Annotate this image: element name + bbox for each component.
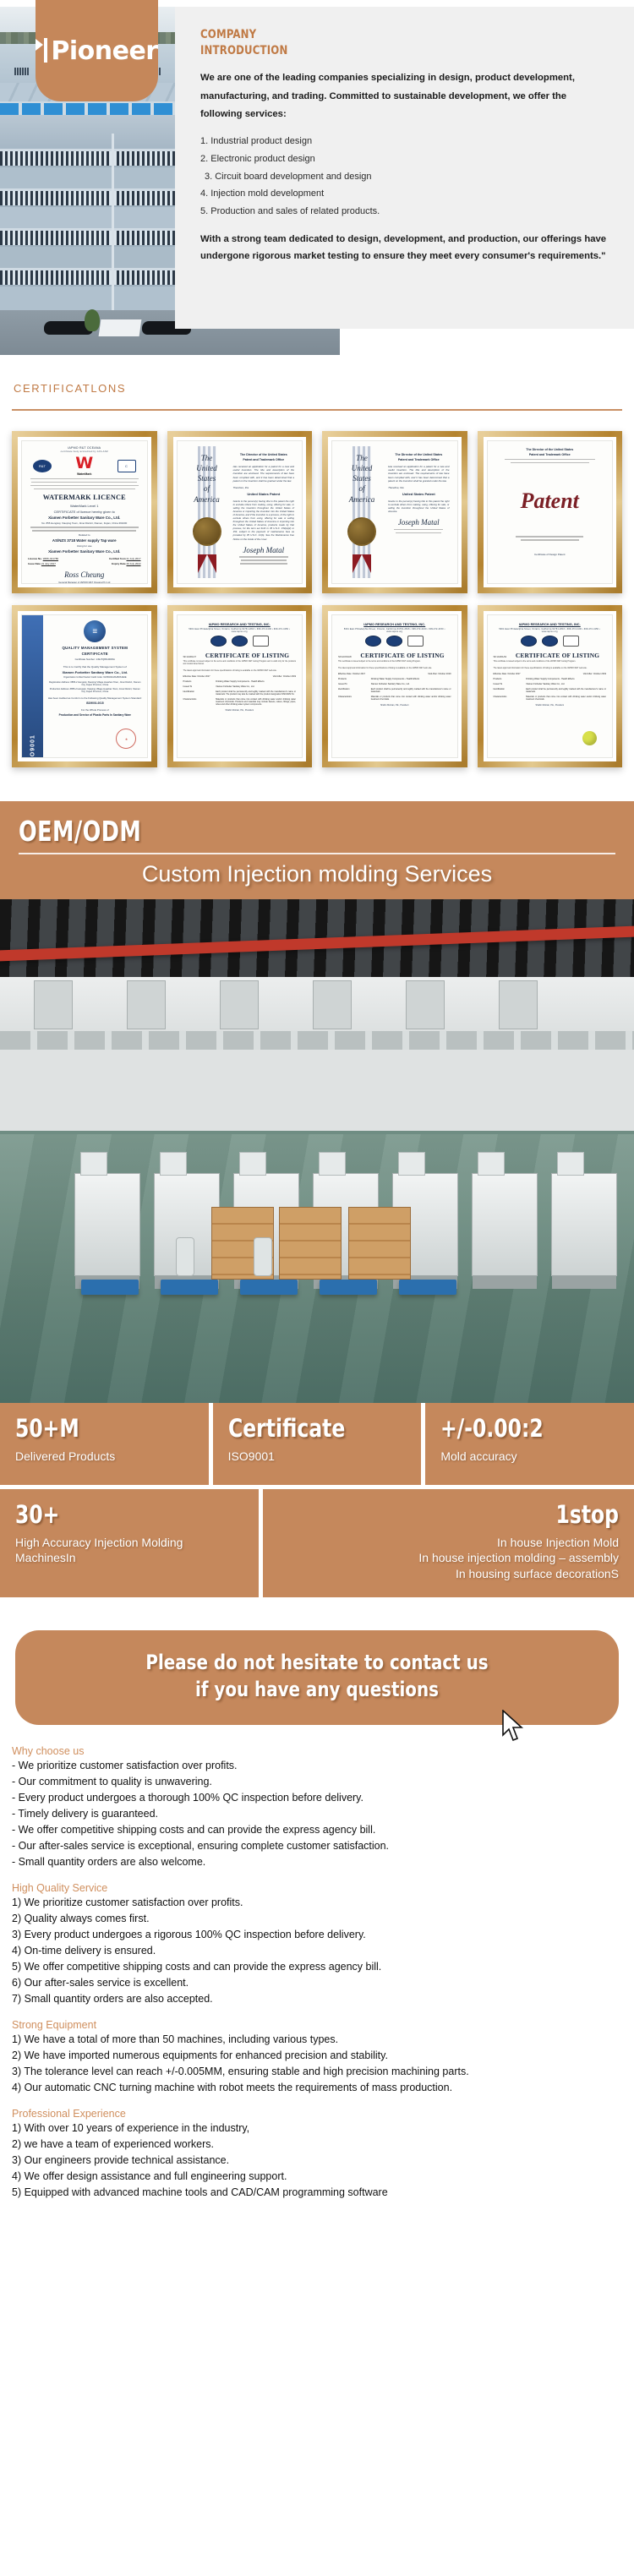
field-key: Characteristics: [338, 696, 368, 701]
company-introduction-card: COMPANY INTRODUCTION We are one of the l…: [175, 7, 634, 329]
listing-file-no: SF1A001A8: [338, 655, 352, 658]
script-line: of: [338, 483, 385, 494]
section-divider: [12, 409, 622, 411]
equipment-line: 3) The tolerance level can reach +/-0.00…: [12, 2064, 622, 2080]
listing-accreditation-logos: [183, 636, 297, 647]
listing-title: CERTIFICATE OF LISTING: [199, 652, 296, 659]
list-item: 3. Circuit board development and design: [200, 168, 609, 186]
certificate-design-patent: The Director of the United States Patent…: [487, 440, 614, 584]
injection-molding-machine: [74, 1173, 140, 1276]
stats-section: 50+M Delivered Products Certificate ISO9…: [0, 1403, 634, 1598]
field-value: Each product shall be permanently and le…: [216, 690, 296, 696]
field-key: Characteristics: [183, 698, 213, 706]
certificate-card[interactable]: IAPMO RESEARCH AND TESTING, INC. 5001 Ea…: [167, 605, 313, 767]
patent-seal-icon: [193, 517, 221, 546]
patent-title: United States Patent: [233, 492, 294, 496]
cert-sub-2: CERTIFICATE of licence hereby given to: [28, 510, 141, 514]
certificate-card[interactable]: IAPMO RESEARCH AND TESTING, INC. 5001 Ea…: [478, 605, 623, 767]
field-key: Effective Date: [183, 675, 197, 678]
field-value: Xiamen Forbetter Sanitary Ware Co., Ltd.: [371, 683, 451, 685]
stat-card: 1stop In house Injection Mold In house i…: [263, 1489, 634, 1598]
stats-row-2: 30+ High Accuracy Injection Molding Mach…: [0, 1489, 634, 1598]
iso-lead: This is to Certify that the Quality Mana…: [47, 665, 142, 669]
stacked-cartons: [279, 1207, 342, 1280]
stat-number: +/-0.00:2: [440, 1416, 601, 1441]
blue-pallet: [161, 1280, 218, 1295]
patent-title: United States Patent: [388, 492, 449, 496]
contact-cta-banner[interactable]: Please do not hesitate to contact us if …: [15, 1630, 619, 1725]
stat-label: ISO9001: [228, 1449, 407, 1465]
watermark-label: WaterMark: [75, 472, 93, 476]
blue-pallet: [320, 1280, 377, 1295]
stat-card: +/-0.00:2 Mold accuracy: [425, 1403, 634, 1485]
why-line: - We prioritize customer satisfaction ov…: [12, 1758, 622, 1774]
pioneer-flag-icon: [36, 38, 50, 63]
watermark-w-icon: W: [75, 454, 93, 472]
stat-card: 30+ High Accuracy Injection Molding Mach…: [0, 1489, 259, 1598]
script-line: States: [338, 473, 385, 483]
field-value: Materials or products that come into con…: [371, 696, 451, 701]
oem-divider: [19, 853, 615, 854]
listing-signature: Shahin Moinian, P.E., President: [338, 704, 451, 707]
cert-sub-1: WaterMark Level 1: [28, 504, 141, 508]
field-value: October 2019: [438, 673, 451, 675]
certificate-card[interactable]: IAPMO R&T OCEANA certificate body accred…: [12, 431, 157, 593]
script-line: United: [183, 463, 231, 473]
gas-cylinder: [254, 1237, 272, 1276]
experience-line: 1) With over 10 years of experience in t…: [12, 2120, 622, 2137]
section-heading: Strong Equipment: [12, 2019, 622, 2031]
field-value: Materials or products that come into con…: [526, 696, 606, 701]
oem-odm-banner: OEM/ODM Custom Injection molding Service…: [0, 801, 634, 899]
certificate-card[interactable]: The United States of America The Directo…: [322, 431, 467, 593]
stat-number: 50+M: [15, 1416, 176, 1441]
field-value: October 2017: [353, 673, 365, 675]
field-key: Licence No.: [28, 557, 42, 560]
iso-cert-no: Certificate Number: 149-PQ8610045A: [47, 658, 142, 661]
white-panel: [99, 319, 142, 336]
patent-grant: Grants to the person(s) having title to …: [233, 499, 294, 541]
stat-card: Certificate ISO9001: [213, 1403, 422, 1485]
field-value: Drinking Water Supply Components - Healt…: [526, 678, 606, 680]
cert-related: AS/NZS 3718 Water supply Tap ware: [28, 538, 141, 543]
listing-signature: Shahin Moinian, P.E., President: [494, 704, 607, 707]
injection-molding-machine: [472, 1173, 538, 1276]
cert-fields: Licence No. WMK-021786 Certified from 21…: [28, 557, 141, 565]
tennis-ball-icon: [582, 731, 597, 745]
cert-org-sub: certificate body accredited by JAS-ANZ: [28, 450, 141, 453]
cert-signature: Ross Cheung: [28, 570, 141, 579]
certificate-card[interactable]: The Director of the United States Patent…: [478, 431, 623, 593]
field-key: Issued To: [183, 685, 213, 688]
cnas-seal-icon: ≡: [84, 620, 106, 642]
office-line-2: Patent and Trademark Office: [388, 458, 449, 461]
duct: [127, 980, 166, 1029]
field-value: 20 July 2022: [126, 562, 140, 565]
field-key: Effective Date: [338, 673, 352, 675]
duct: [34, 980, 73, 1029]
stat-label: High Accuracy Injection Molding Machines…: [15, 1535, 243, 1567]
company-profile-page: Pioneer COMPANY INTRODUCTION We are one …: [0, 0, 634, 2229]
listing-subnote: The latest approval information for thes…: [183, 669, 297, 672]
experience-line: 5) Equipped with advanced machine tools …: [12, 2185, 622, 2201]
factory-interior-photo: [0, 899, 634, 1403]
certificate-watermark-licence: IAPMO R&T OCEANA certificate body accred…: [21, 440, 148, 584]
stats-row-1: 50+M Delivered Products Certificate ISO9…: [0, 1403, 634, 1485]
list-item: 5. Production and sales of related produ…: [200, 203, 609, 221]
script-line: America: [338, 494, 385, 505]
quality-line: 4) On-time delivery is ensured.: [12, 1943, 622, 1959]
patent-therefore: Therefore, this: [388, 486, 449, 489]
listing-subnote: The latest approval information for thes…: [494, 667, 607, 669]
listing-org: IAPMO RESEARCH AND TESTING, INC.: [494, 622, 607, 626]
quality-line: 5) We offer competitive shipping costs a…: [12, 1959, 622, 1975]
cta-line-1: Please do not hesitate to contact us: [58, 1649, 577, 1676]
downpipe-left: [112, 134, 114, 313]
us-patent-left-panel: The United States of America: [183, 446, 231, 578]
intro-paragraph: We are one of the leading companies spec…: [200, 69, 609, 124]
cert-title: WATERMARK LICENCE: [28, 494, 141, 501]
iso-body: ≡ QUALITY MANAGEMENT SYSTEM CERTIFICATE …: [43, 615, 146, 757]
iso-holder: Xiamen Forbetter Sanitary Ware Co., Ltd.: [47, 670, 142, 674]
patent-ribbon-icon: [353, 554, 371, 573]
iso-scope: Production and Service of Plastic Parts …: [47, 713, 142, 717]
field-key: Certified from: [109, 557, 126, 560]
certificate-card[interactable]: ISO9001 ≡ QUALITY MANAGEMENT SYSTEM CERT…: [12, 605, 157, 767]
quality-line: 3) Every product undergoes a rigorous 10…: [12, 1927, 622, 1943]
stat-number: 30+: [15, 1503, 221, 1527]
office-line-1: The Director of the United States: [494, 448, 607, 451]
iso-conform: Has been Audited as Conform to the Follo…: [47, 696, 142, 700]
listing-signature: Shahin Moinian, P.E., President: [183, 709, 297, 712]
stat-label: In house Injection Mold In house injecti…: [278, 1535, 619, 1583]
office-line-2: Patent and Trademark Office: [494, 453, 607, 456]
listing-fields: Effective Date: October 2017 Void After:…: [183, 675, 297, 706]
intro-title-line-1: COMPANY: [200, 27, 568, 43]
listing-accreditation-logos: [494, 636, 607, 647]
experience-line: 4) We offer design assistance and full e…: [12, 2169, 622, 2185]
listing-org-sub: 5001 East Philadelphia Street, Ontario, …: [494, 628, 607, 633]
iso-prod-address: Production Address: #855-2 Hengsiqi, Xia…: [47, 688, 142, 693]
field-key: Identification: [494, 688, 523, 693]
blue-pallet: [240, 1280, 298, 1295]
duct: [220, 980, 259, 1029]
intro-title: COMPANY INTRODUCTION: [200, 27, 568, 58]
field-value: October 2017: [507, 673, 520, 675]
field-key: Products: [183, 680, 213, 683]
certificate-us-patent-2: The United States of America The Directo…: [331, 440, 458, 584]
experience-line: 3) Our engineers provide technical assis…: [12, 2153, 622, 2169]
patent-signature: Joseph Matal: [388, 518, 449, 527]
us-patent-left-panel: The United States of America: [338, 446, 385, 578]
section-heading: Why choose us: [12, 1745, 622, 1757]
patent-script-word: Patent: [494, 488, 607, 514]
oem-title: OEM/ODM: [19, 815, 532, 848]
listing-org-sub: 5001 East Philadelphia Street, Ontario, …: [338, 628, 451, 633]
iso-org-code: Organization Unified Social Credit Code:…: [47, 676, 142, 679]
script-line: The: [183, 453, 231, 463]
iso-standard: ISO9001:2015: [47, 701, 142, 705]
certificate-of-listing-2: IAPMO RESEARCH AND TESTING, INC. 5001 Ea…: [331, 614, 458, 758]
field-value: Xiamen Forbetter Sanitary Ware Co., Ltd.: [216, 685, 296, 688]
listing-title: CERTIFICATE OF LISTING: [354, 652, 451, 659]
cert-footer: General Manager of IAPMO R&T Oceana Pty …: [28, 581, 141, 584]
listing-org: IAPMO RESEARCH AND TESTING, INC.: [338, 622, 451, 626]
field-value: Drinking Water Supply Components - Healt…: [216, 680, 296, 683]
listing-file-no: SF1A001A7: [183, 655, 197, 658]
listing-title: CERTIFICATE OF LISTING: [509, 652, 606, 659]
blue-pallet: [81, 1280, 139, 1295]
field-key: Issued To: [494, 683, 523, 685]
script-line: America: [183, 494, 231, 505]
red-stamp-icon: ★: [116, 729, 136, 749]
duct: [313, 980, 352, 1029]
field-key: Identification: [338, 688, 368, 693]
listing-org-sub: 5001 East Philadelphia Street, Ontario, …: [183, 628, 297, 633]
oem-subtitle: Custom Injection molding Services: [19, 861, 615, 891]
spacer: [12, 2096, 622, 2108]
stat-label: Mold accuracy: [440, 1449, 619, 1465]
field-value: October 2017: [197, 675, 210, 678]
field-value: October 2019: [593, 673, 606, 675]
equipment-line: 4) Our automatic CNC turning machine wit…: [12, 2080, 622, 2096]
contact-cta-section: Please do not hesitate to contact us if …: [0, 1602, 634, 1725]
field-value: Materials or products that come into con…: [216, 698, 296, 706]
certificate-grid: IAPMO R&T OCEANA certificate body accred…: [12, 431, 622, 767]
field-key: Products: [338, 678, 368, 680]
logo-wordmark: Pioneer: [36, 36, 157, 66]
quality-line: 2) Quality always comes first.: [12, 1911, 622, 1927]
field-value: Xiamen Forbetter Sanitary Ware Co., Ltd.: [526, 683, 606, 685]
mouse-cursor-icon: [502, 1710, 524, 1742]
why-line: - Our after-sales service is exceptional…: [12, 1838, 622, 1854]
stat-card: 50+M Delivered Products: [0, 1403, 209, 1485]
listing-fields: Effective Date: October 2017 Void After:…: [494, 673, 607, 701]
list-item: 1. Industrial product design: [200, 133, 609, 150]
patent-grant: Grants to the person(s) having title to …: [388, 499, 449, 513]
section-heading: High Quality Service: [12, 1882, 622, 1894]
cta-line-2: if you have any questions: [58, 1676, 577, 1703]
why-line: - Small quantity orders are also welcome…: [12, 1854, 622, 1870]
script-line: The: [338, 453, 385, 463]
iso-title-1: QUALITY MANAGEMENT SYSTEM: [47, 646, 142, 650]
equipment-line: 1) We have a total of more than 50 machi…: [12, 2032, 622, 2048]
listing-subnote: The latest approval information for thes…: [338, 667, 451, 669]
office-line-1: The Director of the United States: [388, 453, 449, 456]
us-patent-right-panel: The Director of the United States Patent…: [385, 446, 451, 578]
field-value: 21 July 2017: [41, 562, 56, 565]
cert-related-label: Related to: [28, 533, 141, 537]
duct: [406, 980, 445, 1029]
quality-line: 6) Our after-sales service is excellent.: [12, 1975, 622, 1991]
logo-text: Pioneer: [51, 36, 157, 66]
spacer: [12, 2007, 622, 2019]
duct: [499, 980, 538, 1029]
field-value: Drinking Water Supply Components - Healt…: [371, 678, 451, 680]
quality-line: 7) Small quantity orders are also accept…: [12, 1991, 622, 2007]
field-value: WMK-021786: [43, 557, 58, 560]
field-value: 21 July 2017: [126, 557, 140, 560]
company-logo-badge[interactable]: Pioneer: [36, 0, 158, 101]
office-line-2: Patent and Trademark Office: [233, 458, 294, 461]
experience-line: 2) we have a team of experienced workers…: [12, 2137, 622, 2153]
certificate-iso9001: ISO9001 ≡ QUALITY MANAGEMENT SYSTEM CERT…: [21, 614, 148, 758]
blue-pallet: [399, 1280, 456, 1295]
field-value: October 2019: [283, 675, 296, 678]
intro-title-line-2: INTRODUCTION: [200, 43, 568, 59]
certificate-of-listing-3: IAPMO RESEARCH AND TESTING, INC. 5001 Ea…: [487, 614, 614, 758]
gas-cylinder: [176, 1237, 194, 1276]
field-key: Void After: [428, 673, 437, 675]
field-key: Identification: [183, 690, 213, 696]
patent-therefore: Therefore, this: [233, 486, 294, 489]
section-heading: Professional Experience: [12, 2108, 622, 2120]
certifications-heading: CERTIFICATLONS: [12, 382, 622, 395]
listing-note: This certificate is issued subject to th…: [494, 661, 607, 663]
iso-reg-address: Registration Address: #855-2 Hengsiqi, X…: [47, 681, 142, 686]
why-line: - We offer competitive shipping costs an…: [12, 1822, 622, 1838]
listing-file-no: SF1A001A9: [494, 655, 507, 658]
why-line: - Timely delivery is guaranteed.: [12, 1806, 622, 1822]
why-line: - Every product undergoes a thorough 100…: [12, 1790, 622, 1806]
patent-body: Has received an application for a patent…: [233, 465, 294, 483]
patent-signature: Joseph Matal: [233, 546, 294, 554]
certificate-card[interactable]: IAPMO RESEARCH AND TESTING, INC. 5001 Ea…: [322, 605, 467, 767]
list-item: 4. Injection mold development: [200, 185, 609, 203]
cert-address: No. 855 Hengsiqi, Xiaoping Town, Jimei D…: [28, 521, 141, 525]
rt-badge-icon: R&T: [33, 460, 52, 472]
field-key: Expiry Date: [112, 562, 126, 565]
field-key: Issued To: [338, 683, 368, 685]
why-line: - Our commitment to quality is unwaverin…: [12, 1774, 622, 1790]
cert-footer: Certificate of Design Patent: [494, 553, 607, 556]
script-line: States: [183, 473, 231, 483]
script-line: United: [338, 463, 385, 473]
listing-note: This certificate is issued subject to th…: [183, 661, 297, 666]
quality-line: 1) We prioritize customer satisfaction o…: [12, 1895, 622, 1911]
certificate-us-patent: The United States of America The Directo…: [177, 440, 303, 584]
listing-accreditation-logos: [338, 636, 451, 647]
field-value: Each product shall be permanently and le…: [371, 688, 451, 693]
field-key: Issue Date: [28, 562, 41, 565]
cert-holder: Xiamen Forbetter Sanitary Ware Co., Ltd.: [28, 516, 141, 520]
list-item: 2. Electronic product design: [200, 150, 609, 168]
listing-fields: Effective Date: October 2017 Void After:…: [338, 673, 451, 701]
cert-using-label: Using for use: [28, 544, 141, 548]
listing-org: IAPMO RESEARCH AND TESTING, INC.: [183, 622, 297, 626]
patent-ribbon-icon: [198, 554, 216, 573]
iso-side-band: ISO9001: [22, 615, 43, 757]
certifications-section: CERTIFICATLONS IAPMO R&T OCEANA certific…: [0, 363, 634, 767]
injection-molding-machine: [551, 1173, 617, 1276]
listing-note: This certificate is issued subject to th…: [338, 661, 451, 663]
iso-scope-label: For the Whole Process of: [47, 708, 142, 712]
intro-closing-paragraph: With a strong team dedicated to design, …: [200, 231, 609, 266]
field-key: Void After: [273, 675, 282, 678]
equipment-line: 2) We have imported numerous equipments …: [12, 2048, 622, 2064]
office-line-1: The Director of the United States: [233, 453, 294, 456]
spacer: [12, 1870, 622, 1882]
field-key: Products: [494, 678, 523, 680]
patent-body: Has received an application for a patent…: [388, 465, 449, 483]
stat-label: Delivered Products: [15, 1449, 194, 1465]
why-choose-us-section: Why choose us - We prioritize customer s…: [0, 1725, 634, 2229]
stat-number: Certificate: [228, 1416, 389, 1441]
script-line: of: [183, 483, 231, 494]
cert-using: Xiamen Forbetter Sanitary Ware Co., Ltd.: [28, 549, 141, 554]
iso-band-label: ISO9001: [30, 734, 36, 758]
us-patent-right-panel: The Director of the United States Patent…: [231, 446, 296, 578]
iso-title-2: CERTIFICATE: [47, 652, 142, 656]
stat-number: 1stop: [312, 1503, 619, 1527]
certificate-of-listing-1: IAPMO RESEARCH AND TESTING, INC. 5001 Ea…: [177, 614, 303, 758]
certificate-card[interactable]: The United States of America The Directo…: [167, 431, 313, 593]
c-tick-badge-icon: C: [118, 460, 136, 472]
field-key: Void After: [583, 673, 593, 675]
field-value: Each product shall be permanently and le…: [526, 688, 606, 693]
hero-section: Pioneer COMPANY INTRODUCTION We are one …: [0, 0, 634, 363]
field-key: Effective Date: [494, 673, 507, 675]
watermark-logos: R&T W WaterMark C: [33, 456, 136, 476]
field-key: Characteristics: [494, 696, 523, 701]
shrub: [85, 309, 100, 331]
patent-seal-icon: [347, 517, 376, 546]
services-list: 1. Industrial product design 2. Electron…: [200, 133, 609, 220]
stacked-cartons: [348, 1207, 411, 1280]
